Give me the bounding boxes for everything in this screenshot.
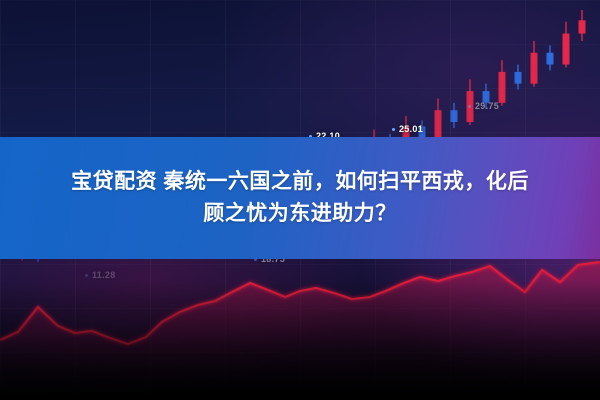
price-marker-dot (468, 105, 471, 108)
price-label: 25.01 (392, 124, 423, 134)
candlestick (499, 72, 506, 103)
candlestick (563, 34, 570, 65)
candlestick (547, 53, 554, 65)
headline-line-2: 顾之忧为东进助力？ (203, 201, 397, 227)
bottom-vignette (0, 280, 600, 400)
headline-banner: 宝贷配资 秦统一六国之前，如何扫平西戎，化后 顾之忧为东进助力？ (0, 137, 600, 259)
price-label-text: 11.28 (92, 270, 116, 280)
price-label-text: 25.01 (399, 124, 423, 134)
price-marker-dot (392, 128, 395, 131)
candlestick (451, 110, 458, 122)
promo-banner-image: 22.1025.0129.7518.0718.7511.28 宝贷配资 秦统一六… (0, 0, 600, 400)
candlestick (435, 110, 442, 138)
price-label-text: 29.75 (475, 101, 499, 111)
candlestick (579, 20, 586, 33)
price-marker-dot (85, 274, 88, 277)
candlestick (531, 53, 538, 84)
candlestick (515, 72, 522, 84)
price-label: 11.28 (85, 270, 116, 280)
headline-line-1: 宝贷配资 秦统一六国之前，如何扫平西戎，化后 (71, 169, 529, 195)
price-label: 29.75 (468, 101, 499, 111)
